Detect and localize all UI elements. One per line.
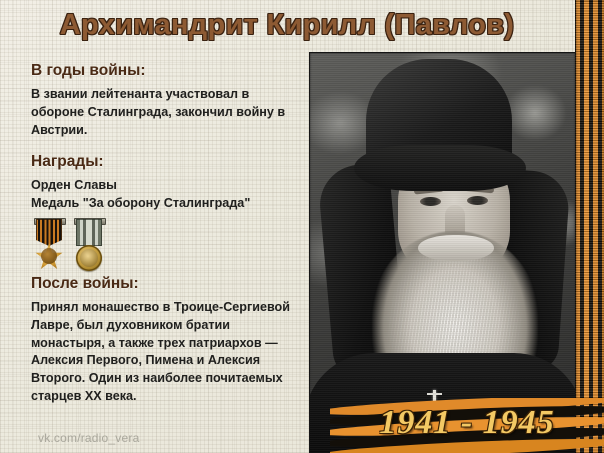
awards-icon-row <box>32 219 142 281</box>
st-george-ribbon-banner: 1941 - 1945 <box>330 398 604 453</box>
section-heading: Награды: <box>31 153 299 171</box>
st-george-ribbon-strip <box>575 0 604 453</box>
slide-canvas: Архимандрит Кирилл (Павлов) В годы войны… <box>0 0 604 453</box>
portrait-photo <box>310 53 575 453</box>
page-title: Архимандрит Кирилл (Павлов) <box>0 9 574 42</box>
section-heading: В годы войны: <box>31 62 299 80</box>
years-label: 1941 - 1945 <box>330 404 604 442</box>
section-after-war: После войны: Принял монашество в Троице-… <box>31 275 299 406</box>
section-war-years: В годы войны: В звании лейтенанта участв… <box>31 62 299 139</box>
section-body: Орден Славы Медаль "За оборону Сталингра… <box>31 177 299 213</box>
medal-ribbon <box>76 219 102 246</box>
section-awards: Награды: Орден Славы Медаль "За оборону … <box>31 153 299 213</box>
section-body: В звании лейтенанта участвовал в обороне… <box>31 86 299 140</box>
watermark: vk.com/radio_vera <box>38 431 139 445</box>
stalingrad-medal-icon <box>72 219 106 279</box>
star-center-medallion <box>41 248 57 264</box>
medal-ribbon <box>36 219 62 246</box>
photo-grain-overlay <box>310 53 575 453</box>
medal-center-relief <box>80 249 98 267</box>
order-of-glory-icon <box>32 219 66 279</box>
section-body: Принял монашество в Троице-Сергиевой Лав… <box>31 299 299 406</box>
